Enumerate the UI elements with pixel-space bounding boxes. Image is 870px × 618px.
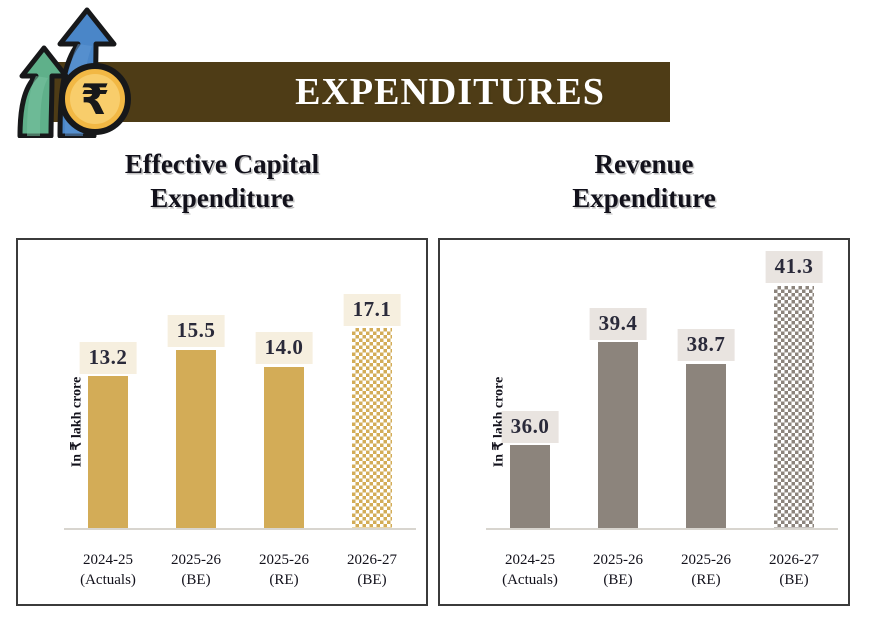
tick-line1: 2025-26 [240,550,328,570]
bar[interactable] [598,342,638,530]
bar-value-label: 17.1 [344,294,401,326]
bar-value-label: 41.3 [766,251,823,283]
tick-line1: 2026-27 [750,550,838,570]
tick-line2: (Actuals) [486,570,574,590]
bar[interactable] [88,376,128,530]
bar-value-label: 15.5 [168,315,225,347]
bar-group: 41.3 [750,248,838,530]
x-axis-baseline [486,528,838,530]
chart-title-revenue-expenditure: Revenue Expenditure [438,148,850,220]
bar[interactable] [176,350,216,530]
rising-arrows-rupee-coin-icon: ₹ [8,4,138,138]
chart-title-line1: Effective Capital [125,148,319,182]
bar-group: 17.1 [328,248,416,530]
bar[interactable] [510,445,550,530]
plot-area-effective-capital-expenditure: 13.2 15.5 14.0 17.1 [64,248,416,530]
x-axis-labels: 2024-25 (Actuals) 2025-26 (BE) 2025-26 (… [486,534,838,590]
tick-line2: (BE) [328,570,416,590]
bar-value-label: 38.7 [678,329,735,361]
bar-value-label: 13.2 [80,342,137,374]
tick-line2: (BE) [750,570,838,590]
bar-group: 39.4 [574,248,662,530]
tick-line1: 2024-25 [64,550,152,570]
tick-line2: (BE) [152,570,240,590]
x-axis-tick-label: 2024-25 (Actuals) [486,550,574,591]
x-axis-tick-label: 2025-26 (BE) [152,550,240,591]
x-axis-tick-label: 2024-25 (Actuals) [64,550,152,591]
page-header: EXPENDITURES ₹ [0,0,870,140]
bar-group: 38.7 [662,248,750,530]
bar-group: 36.0 [486,248,574,530]
bar-value-label: 36.0 [502,411,559,443]
bar[interactable] [352,328,392,530]
x-axis-tick-label: 2025-26 (BE) [574,550,662,591]
tick-line2: (BE) [574,570,662,590]
chart-title-effective-capital-expenditure: Effective Capital Expenditure [16,148,428,220]
chart-title-line1: Revenue [595,148,694,182]
bar-value-label: 14.0 [256,332,313,364]
tick-line2: (RE) [240,570,328,590]
x-axis-tick-label: 2026-27 (BE) [328,550,416,591]
tick-line1: 2025-26 [662,550,750,570]
tick-line1: 2025-26 [574,550,662,570]
bar[interactable] [774,286,814,530]
bar-group: 14.0 [240,248,328,530]
bar[interactable] [686,364,726,530]
x-axis-baseline [64,528,416,530]
tick-line1: 2025-26 [152,550,240,570]
chart-title-line2: Expenditure [572,182,716,216]
x-axis-tick-label: 2025-26 (RE) [240,550,328,591]
chart-panel-effective-capital-expenditure: In ₹ lakh crore 13.2 15.5 14.0 17.1 2024… [16,238,428,606]
chart-panel-revenue-expenditure: In ₹ lakh crore 36.0 39.4 38.7 41.3 2024… [438,238,850,606]
bar-value-label: 39.4 [590,308,647,340]
tick-line1: 2026-27 [328,550,416,570]
tick-line1: 2024-25 [486,550,574,570]
chart-title-line2: Expenditure [150,182,294,216]
x-axis-tick-label: 2026-27 (BE) [750,550,838,591]
svg-text:₹: ₹ [80,75,109,124]
bar-group: 13.2 [64,248,152,530]
bar-group: 15.5 [152,248,240,530]
tick-line2: (Actuals) [64,570,152,590]
tick-line2: (RE) [662,570,750,590]
page-title: EXPENDITURES [240,62,660,122]
plot-area-revenue-expenditure: 36.0 39.4 38.7 41.3 [486,248,838,530]
x-axis-labels: 2024-25 (Actuals) 2025-26 (BE) 2025-26 (… [64,534,416,590]
x-axis-tick-label: 2025-26 (RE) [662,550,750,591]
bar[interactable] [264,367,304,530]
